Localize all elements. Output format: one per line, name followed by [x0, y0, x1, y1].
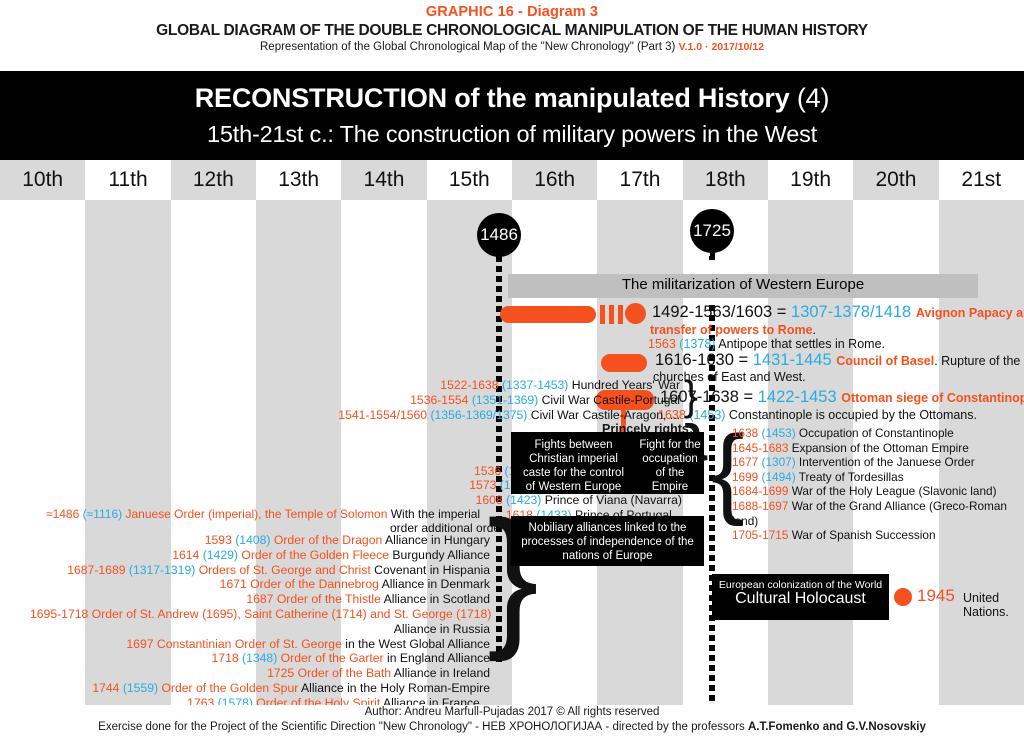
ottoman-year: 1645-1683 — [732, 441, 792, 455]
orders-text: in the West Global Alliance — [345, 637, 490, 651]
orders-name: Order of the Dannebrog — [250, 577, 381, 591]
militarization-band: The militarization of Western Europe — [508, 274, 978, 298]
colonization-title: Cultural Holocaust — [712, 592, 889, 606]
event-1492-alt-range: 1307-1378/1418 — [791, 303, 911, 321]
event-1616-range: 1616-1630 — [655, 351, 734, 369]
orders-alt: (1578) — [218, 696, 257, 705]
ottoman-year: 1677 — [732, 455, 762, 469]
orders-heading-line: ≈1486 (≈1116) Januese Order (imperial), … — [46, 507, 480, 521]
page-subtitle: Representation of the Global Chronologic… — [260, 41, 675, 53]
event-1492-headline: 1492-1563/1603 = 1307-1378/1418 Avignon … — [652, 303, 1024, 322]
wars-list: 1522-1638 (1337-1453) Hundred Years' War… — [120, 378, 680, 422]
box-nobiliary: Nobiliary alliances linked to the proces… — [511, 516, 704, 566]
century-label-18th: 18th — [683, 160, 768, 200]
wars-text: Civil War Castile-Portugal — [542, 393, 680, 407]
century-label-15th: 15th — [427, 160, 512, 200]
orders-list-item: 1695-1718 Order of St. Andrew (1695), Sa… — [30, 607, 490, 622]
page-header: GRAPHIC 16 - Diagram 3 GLOBAL DIAGRAM OF… — [0, 0, 1024, 55]
wars-list-item: 1541-1554/1560 (1356-1369/1375) Civil Wa… — [120, 408, 680, 423]
ottoman-text: War of the Grand Alliance (Greco-Roman — [792, 499, 1007, 513]
event-tick-b — [609, 305, 614, 324]
orders-name: Order of the Golden Fleece — [241, 548, 392, 562]
orders-text: Covenant in Hispania — [374, 563, 490, 577]
event-1492-title: Avignon Papacy and — [916, 306, 1024, 320]
event-1492-title-2: transfer of powers to Rome — [650, 323, 813, 337]
orders-head-tail: With the imperial — [391, 507, 480, 521]
box-fight-empire-text: Fight for the occupation of the Empire — [639, 439, 700, 493]
page-title: GLOBAL DIAGRAM OF THE DOUBLE CHRONOLOGIC… — [0, 21, 1024, 40]
ottoman-text: Occupation of Constantinople — [799, 426, 954, 440]
event-1616-tail: . Rupture of the — [934, 354, 1020, 368]
orders-list-item: 1697 Constantinian Order of St. George i… — [30, 637, 490, 652]
orders-name: Order of the Thistle — [277, 592, 384, 606]
orders-year: 1744 — [92, 681, 123, 695]
orders-text: Alliance in the Holy Roman-Empire — [301, 681, 490, 695]
wars-year: 1522-1638 — [440, 378, 502, 392]
century-label-21st: 21st — [939, 160, 1024, 200]
event-bar-1492 — [500, 306, 596, 323]
footer-project: Exercise done for the Project of the Sci… — [0, 720, 1024, 735]
marker-1486[interactable]: 1486 — [477, 213, 521, 257]
orders-name: Order of the Bath — [298, 666, 394, 680]
ottoman-year: 1699 — [732, 470, 762, 484]
ottoman-list-item: 1645-1683 Expansion of the Ottoman Empir… — [732, 441, 1022, 456]
event-1492-title-cont: transfer of powers to Rome. — [650, 323, 816, 337]
century-label-13th: 13th — [256, 160, 341, 200]
box-fight-empire: Fight for the occupation of the Empire — [636, 432, 704, 494]
orders-text: Burgundy Alliance — [392, 548, 490, 562]
orders-list-item: 1744 (1559) Order of the Golden Spur All… — [30, 681, 490, 696]
footer-author: Author: Andreu Marfull-Pujadas 2017 © Al… — [0, 705, 1024, 720]
chart-body: 1486 1725 The militarization of Western … — [0, 200, 1024, 705]
orders-list-item: 1718 (1348) Order of the Garter in Engla… — [30, 651, 490, 666]
century-label-10th: 10th — [0, 160, 85, 200]
wars-text: Hundred Years' War — [572, 378, 680, 392]
wars-alt: (1356-1369/1375) — [430, 408, 530, 422]
event-1607-alt-range: 1422-1453 — [758, 388, 837, 406]
banner-title-text: RECONSTRUCTION of the manipulated Histor… — [195, 83, 790, 113]
event-1492-sub-text: Antipope that settles in Rome. — [718, 337, 885, 351]
orders-text: Alliance in Denmark — [382, 577, 490, 591]
princely-text: Prince of Viana (Navarra) — [545, 493, 682, 507]
orders-name: Orders of St. George and Christ — [199, 563, 374, 577]
orders-name: Order of the Holy Spirit — [256, 696, 383, 705]
event-1616-equals: = — [739, 351, 749, 369]
ottoman-text: Expansion of the Ottoman Empire — [792, 441, 969, 455]
reconstruction-banner: RECONSTRUCTION of the manipulated Histor… — [0, 71, 1024, 160]
event-1607-title: Ottoman siege of Constantinople — [841, 391, 1024, 405]
orders-name: Constantinian Order of St. George — [157, 637, 345, 651]
banner-line-2: 15th-21st c.: The construction of milita… — [0, 119, 1024, 149]
ottoman-text: War of Spanish Succession — [792, 528, 936, 542]
princely-year: 1536 — [474, 464, 505, 478]
wars-alt: (1337-1453) — [502, 378, 572, 392]
orders-text: Alliance in Ireland — [394, 666, 490, 680]
ottoman-list-item: land) — [732, 514, 1022, 529]
orders-list: 1593 (1408) Order of the Dragon Alliance… — [30, 533, 490, 705]
wars-text: Civil War Castile-Aragon, ... — [531, 408, 680, 422]
orders-list-item: Alliance in Russia — [30, 622, 490, 637]
century-label-14th: 14th — [341, 160, 426, 200]
un-text-2: Nations. — [963, 605, 1009, 619]
orders-head-year: ≈1486 — [46, 507, 79, 521]
orders-year: 1687 — [246, 592, 277, 606]
orders-list-item: 1614 (1429) Order of the Golden Fleece B… — [30, 548, 490, 563]
orders-year: 1687-1689 — [67, 563, 129, 577]
orders-alt: (1559) — [123, 681, 162, 695]
ottoman-text: Intervention of the Januese Order — [799, 455, 975, 469]
century-label-11th: 11th — [85, 160, 170, 200]
ottoman-alt: (1453) — [762, 426, 799, 440]
orders-head-alt: (≈1116) — [83, 507, 123, 521]
ottoman-list-item: 1705-1715 War of Spanish Succession — [732, 528, 1022, 543]
event-bar-1616 — [601, 354, 647, 372]
event-1616-alt-range: 1431-1445 — [753, 351, 832, 369]
wars-alt: (1351-1369) — [472, 393, 542, 407]
century-label-16th: 16th — [512, 160, 597, 200]
orders-list-item: 1687 Order of the Thistle Alliance in Sc… — [30, 592, 490, 607]
orders-name: Order of St. Andrew (1695), Saint Cather… — [92, 607, 492, 621]
century-label-19th: 19th — [768, 160, 853, 200]
ottoman-text: land) — [732, 514, 758, 528]
orders-alt: (1429) — [203, 548, 242, 562]
wars-list-item: 1536-1554 (1351-1369) Civil War Castile-… — [120, 393, 680, 408]
orders-name: Order of the Golden Spur — [161, 681, 301, 695]
event-1492-equals: = — [777, 303, 787, 321]
ottoman-list-item: 1677 (1307) Intervention of the Januese … — [732, 455, 1022, 470]
orders-year: 1593 — [205, 533, 236, 547]
orders-text: in England Alliance — [387, 651, 490, 665]
orders-year: 1718 — [212, 651, 243, 665]
princely-list-item: 1608 (1423) Prince of Viana (Navarra) — [120, 493, 682, 508]
orders-name: Order of the Dragon — [274, 533, 385, 547]
event-tick-a — [600, 305, 605, 324]
page-footer: Author: Andreu Marfull-Pujadas 2017 © Al… — [0, 705, 1024, 735]
wars-list-item: 1522-1638 (1337-1453) Hundred Years' War — [120, 378, 680, 393]
event-1492-sub-alt: (1378) — [679, 337, 715, 351]
orders-year: 1695-1718 — [30, 607, 92, 621]
box-cultural-holocaust: European colonization of the World Cultu… — [712, 574, 889, 620]
orders-list-item: 1687-1689 (1317-1319) Orders of St. Geor… — [30, 563, 490, 578]
event-1616-title: Council of Basel — [836, 354, 934, 368]
orders-year: 1725 — [267, 666, 298, 680]
orders-alt: (1348) — [242, 651, 281, 665]
ottoman-list-item: 1699 (1494) Treaty of Tordesillas — [732, 470, 1022, 485]
ottoman-list-item: 1688-1697 War of the Grand Alliance (Gre… — [732, 499, 1022, 514]
ottoman-text: Treaty of Tordesillas — [799, 470, 904, 484]
box-nobiliary-text: Nobiliary alliances linked to the proces… — [521, 522, 694, 562]
orders-text: Alliance in Scotland — [384, 592, 490, 606]
ottoman-list-item: 1684-1699 War of the Holy League (Slavon… — [732, 484, 1022, 499]
orders-list-item: 1593 (1408) Order of the Dragon Alliance… — [30, 533, 490, 548]
wars-year: 1536-1554 — [410, 393, 472, 407]
event-1607-headline: 1607-1638 = 1422-1453 Ottoman siege of C… — [660, 388, 1024, 407]
century-label-17th: 17th — [597, 160, 682, 200]
footer-project-text: Exercise done for the Project of the Sci… — [98, 721, 748, 733]
orders-list-item: 1763 (1578) Order of the Holy Spirit All… — [30, 696, 490, 705]
marker-1725[interactable]: 1725 — [690, 209, 734, 253]
event-tick-c — [618, 305, 623, 324]
orders-alt: (1408) — [235, 533, 274, 547]
wars-year: 1541-1554/1560 — [338, 408, 430, 422]
orders-list-item: 1725 Order of the Bath Alliance in Irela… — [30, 666, 490, 681]
orders-text: Alliance in Hungary — [385, 533, 490, 547]
orders-head-title: Januese Order (imperial), the Temple of … — [125, 507, 387, 521]
orders-year: 1614 — [172, 548, 203, 562]
footer-professors: A.T.Fomenko and G.V.Nosovskiy — [748, 721, 926, 733]
ottoman-list-item: 1638 (1453) Occupation of Constantinople — [732, 426, 1022, 441]
orders-list-item: 1671 Order of the Dannebrog Alliance in … — [30, 577, 490, 592]
century-label-20th: 20th — [853, 160, 938, 200]
graphic-number: GRAPHIC 16 - Diagram 3 — [0, 3, 1024, 21]
un-text-1: United — [963, 591, 999, 605]
event-1492-subline: 1563 (1378) Antipope that settles in Rom… — [648, 337, 885, 351]
ottoman-year: 1705-1715 — [732, 528, 792, 542]
un-year: 1945 — [917, 586, 955, 606]
un-marker-dot — [894, 588, 912, 606]
orders-year: 1763 — [187, 696, 218, 705]
ottoman-alt: (1307) — [762, 455, 799, 469]
event-1616-headline: 1616-1630 = 1431-1445 Council of Basel. … — [655, 351, 1020, 370]
banner-part-number: (4) — [797, 83, 829, 113]
orders-year: 1671 — [220, 577, 251, 591]
ottoman-year: 1684-1699 — [732, 484, 792, 498]
version-label: V.1.0 · 2017/10/12 — [679, 41, 764, 53]
box-fights-between: Fights between Christian imperial caste … — [511, 432, 636, 494]
ottoman-alt: (1494) — [762, 470, 799, 484]
page-subtitle-row: Representation of the Global Chronologic… — [0, 40, 1024, 55]
ottoman-year: 1688-1697 — [732, 499, 792, 513]
event-1607-sub-text: Constantinople is occupied by the Ottoma… — [729, 408, 977, 422]
event-1492-title-2-tail: . — [813, 323, 816, 337]
banner-line-1: RECONSTRUCTION of the manipulated Histor… — [0, 71, 1024, 119]
century-label-12th: 12th — [171, 160, 256, 200]
century-axis-header: 10th11th12th13th14th15th16th17th18th19th… — [0, 160, 1024, 200]
orders-alt: (1317-1319) — [129, 563, 199, 577]
event-1492-sub-year: 1563 — [648, 337, 676, 351]
ottoman-text: War of the Holy League (Slavonic land) — [792, 484, 997, 498]
ottoman-year: 1638 — [732, 426, 762, 440]
orders-text: Alliance in Russia — [394, 622, 490, 636]
box-fights-text: Fights between Christian imperial caste … — [523, 439, 624, 493]
orders-text: Alliance in France... — [383, 696, 490, 705]
event-1492-range: 1492-1563/1603 — [652, 303, 772, 321]
orders-year: 1697 — [126, 637, 157, 651]
event-dot-1603 — [625, 303, 646, 324]
event-1607-equals: = — [744, 388, 754, 406]
orders-name: Order of the Garter — [281, 651, 387, 665]
ottoman-list: 1638 (1453) Occupation of Constantinople… — [732, 426, 1022, 543]
